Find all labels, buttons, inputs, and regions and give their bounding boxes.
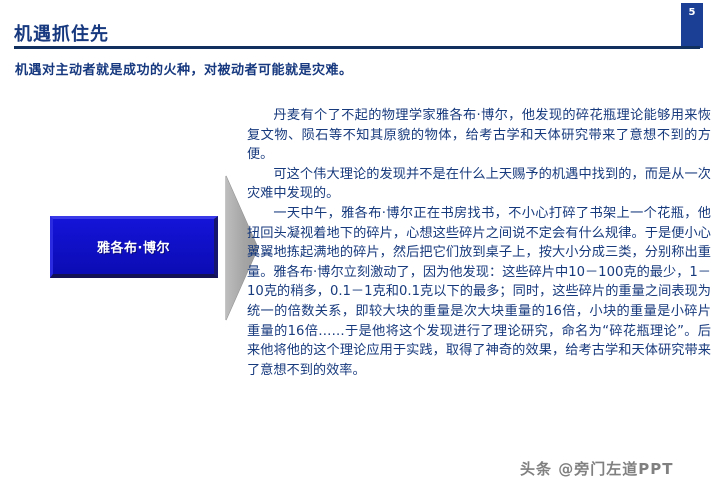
body-paragraph: 丹麦有个了不起的物理学家雅各布·博尔，他发现的碎花瓶理论能够用来恢复文物、陨石等…: [247, 106, 711, 165]
watermark-label: 头条 @旁门左道PPT: [520, 458, 673, 479]
page-title: 机遇抓住先: [14, 20, 109, 46]
name-callout-label: 雅各布·博尔: [97, 237, 170, 256]
body-paragraph: 可这个伟大理论的发现并不是在什么上天赐予的机遇中找到的，而是从一次灾难中发现的。: [247, 165, 711, 204]
title-underline-divider: [14, 46, 700, 49]
body-paragraph: 一天中午，雅各布·博尔正在书房找书，不小心打碎了书架上一个花瓶，他扭回头凝视着地…: [247, 204, 711, 380]
name-callout-box: 雅各布·博尔: [50, 216, 218, 278]
page-number-badge: 5: [681, 3, 703, 48]
body-text-block: 丹麦有个了不起的物理学家雅各布·博尔，他发现的碎花瓶理论能够用来恢复文物、陨石等…: [247, 106, 711, 380]
slide-canvas: 5 机遇抓住先 机遇对主动者就是成功的火种，对被动者可能就是灾难。 雅各布·博尔…: [0, 0, 718, 490]
slide-subtitle: 机遇对主动者就是成功的火种，对被动者可能就是灾难。: [15, 59, 353, 78]
